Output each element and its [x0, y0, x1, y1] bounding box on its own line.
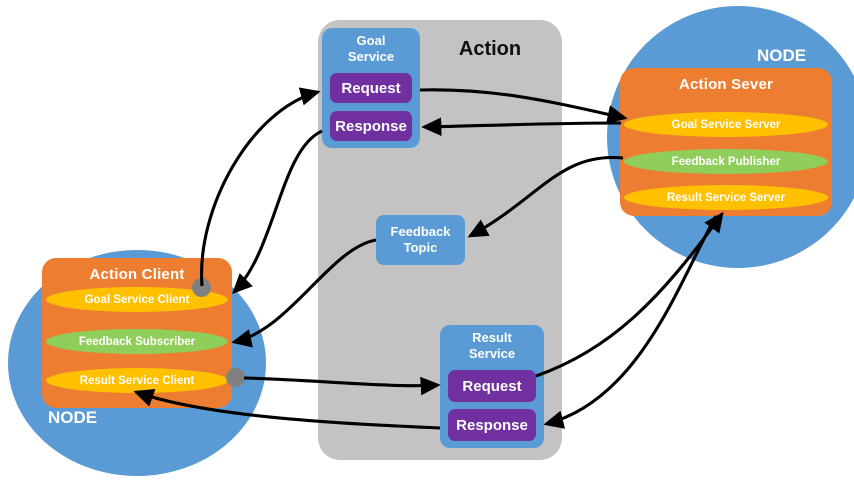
pill-goal-service-server[interactable]: Goal Service Server — [624, 112, 828, 137]
goal-service-title-line2: Service — [322, 49, 420, 65]
result-service-box: Result Service Request Response — [440, 325, 544, 448]
diagram-canvas: Action Goal Service Request Response Fee… — [0, 0, 854, 480]
arrow-goal-client-to-request — [202, 92, 318, 286]
goal-service-box: Goal Service Request Response — [322, 28, 420, 148]
pill-feedback-subscriber[interactable]: Feedback Subscriber — [46, 329, 228, 354]
feedback-topic-line2: Topic — [391, 240, 451, 256]
action-panel-title: Action — [430, 38, 550, 61]
pill-feedback-publisher[interactable]: Feedback Publisher — [624, 149, 828, 174]
feedback-topic-box[interactable]: Feedback Topic — [376, 215, 465, 265]
result-service-title: Result Service — [440, 330, 544, 362]
feedback-topic-line1: Feedback — [391, 224, 451, 240]
goal-service-response-box[interactable]: Response — [330, 111, 412, 141]
result-service-response-box[interactable]: Response — [448, 409, 536, 441]
result-service-request-box[interactable]: Request — [448, 370, 536, 402]
connector-dot-result-client — [226, 368, 245, 387]
connector-dot-goal-client — [192, 278, 211, 297]
pill-result-service-server[interactable]: Result Service Server — [624, 185, 828, 210]
goal-service-title: Goal Service — [322, 33, 420, 65]
result-service-title-line2: Service — [440, 346, 544, 362]
arrow-response-to-goal-client — [234, 131, 322, 292]
goal-service-title-line1: Goal — [322, 33, 420, 49]
pill-result-service-client[interactable]: Result Service Client — [46, 368, 228, 393]
result-service-title-line1: Result — [440, 330, 544, 346]
client-node-label: NODE — [48, 408, 97, 428]
goal-service-request-box[interactable]: Request — [330, 73, 412, 103]
action-server-title: Action Sever — [620, 76, 832, 93]
server-node-label: NODE — [757, 46, 806, 66]
